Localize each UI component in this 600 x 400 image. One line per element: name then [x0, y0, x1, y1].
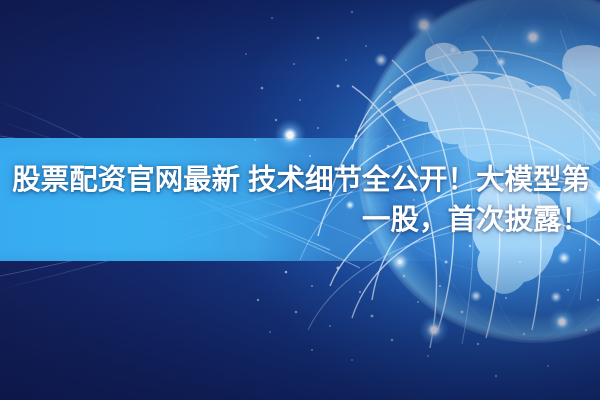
promo-banner: 股票配资官网最新 技术细节全公开！大模型第一股，首次披露！: [0, 0, 600, 400]
banner-headline: 股票配资官网最新 技术细节全公开！大模型第一股，首次披露！: [0, 160, 600, 240]
